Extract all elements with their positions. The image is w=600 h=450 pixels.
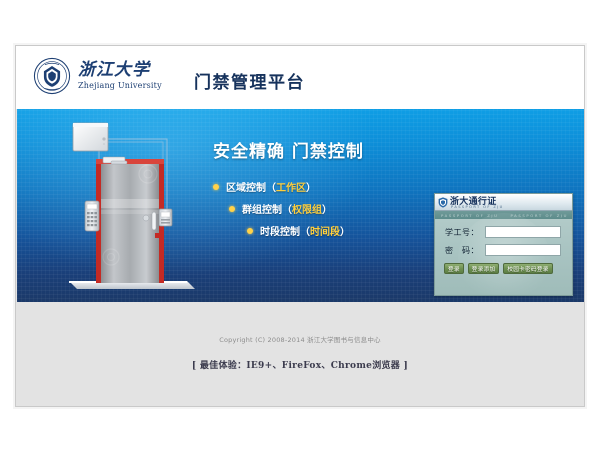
page-card: 浙江大学 Zhejiang University 门禁管理平台 — [15, 45, 585, 407]
login-watermark-strip: PASSPORT OF ZJU PASSPORT OF ZJU PASSPORT… — [435, 211, 572, 219]
form-row-userid: 学工号： — [435, 226, 572, 238]
login-button-group: 登录 登录添加 校园卡密码登录 — [435, 262, 572, 274]
hero-banner: 安全精确 门禁控制 区域控制（ 工作区 ） 群组控制（ 权限组 ） 时段控制（ — [17, 109, 585, 303]
zju-seal-icon — [33, 57, 71, 95]
hero-bullet-accent: 工作区 — [276, 179, 306, 194]
page-title: 门禁管理平台 — [194, 68, 305, 93]
brand-text: 浙江大学 Zhejiang University — [78, 62, 162, 91]
watermark-text: PASSPORT OF ZJU — [505, 213, 572, 218]
userid-label: 学工号： — [445, 227, 485, 238]
site-header: 浙江大学 Zhejiang University 门禁管理平台 — [16, 46, 584, 109]
campus-card-login-button[interactable]: 校园卡密码登录 — [503, 263, 552, 274]
form-row-password: 密 码： — [435, 244, 572, 256]
password-label: 密 码： — [445, 245, 485, 256]
brand[interactable]: 浙江大学 Zhejiang University — [33, 57, 162, 95]
password-input[interactable] — [485, 244, 561, 256]
hero-bullet-time-control: 时段控制（ 时间段 ） — [213, 223, 413, 238]
hero-bullet-label: 区域控制（ — [226, 179, 276, 194]
bullet-dot-icon — [213, 184, 219, 190]
hero-copy: 安全精确 门禁控制 区域控制（ 工作区 ） 群组控制（ 权限组 ） 时段控制（ — [213, 137, 413, 245]
hero-bullet-tail: ） — [306, 179, 316, 194]
login-add-button[interactable]: 登录添加 — [468, 263, 500, 274]
login-form: 学工号： 密 码： 登录 登录添加 校园卡密码登录 — [435, 219, 572, 274]
site-footer: Copyright (C) 2008-2014 浙江大学图书与信息中心 [ 最佳… — [16, 302, 584, 406]
hero-bullet-accent: 时间段 — [310, 223, 340, 238]
login-button[interactable]: 登录 — [444, 263, 464, 274]
watermark-text: PASSPORT OF ZJU — [435, 213, 505, 218]
hero-bullet-label: 群组控制（ — [242, 201, 292, 216]
userid-input[interactable] — [485, 226, 561, 238]
bullet-dot-icon — [247, 228, 253, 234]
hero-bullet-tail: ） — [322, 201, 332, 216]
login-panel-titlebar: 浙大通行证 PASSPORT OF ZJU — [435, 194, 572, 211]
login-panel: 浙大通行证 PASSPORT OF ZJU PASSPORT OF ZJU PA… — [434, 193, 573, 296]
hero-bullet-tail: ） — [340, 223, 350, 238]
hero-bullet-area-control: 区域控制（ 工作区 ） — [213, 179, 413, 194]
bullet-dot-icon — [229, 206, 235, 212]
hero-bullet-accent: 权限组 — [292, 201, 322, 216]
footer-browser-note: [ 最佳体验：IE9+、FireFox、Chrome浏览器 ] — [16, 358, 584, 371]
hero-bullet-list: 区域控制（ 工作区 ） 群组控制（ 权限组 ） 时段控制（ 时间段 ） — [213, 179, 413, 238]
brand-name-cn: 浙江大学 — [78, 62, 162, 80]
brand-name-en: Zhejiang University — [78, 81, 162, 90]
hero-bullet-label: 时段控制（ — [260, 223, 310, 238]
shield-icon — [438, 197, 448, 208]
login-panel-subtitle: PASSPORT OF ZJU — [451, 205, 504, 209]
hero-bullet-group-control: 群组控制（ 权限组 ） — [213, 201, 413, 216]
hero-headline: 安全精确 门禁控制 — [213, 137, 413, 162]
footer-copyright: Copyright (C) 2008-2014 浙江大学图书与信息中心 — [16, 334, 584, 344]
access-control-door-illustration — [55, 117, 207, 299]
